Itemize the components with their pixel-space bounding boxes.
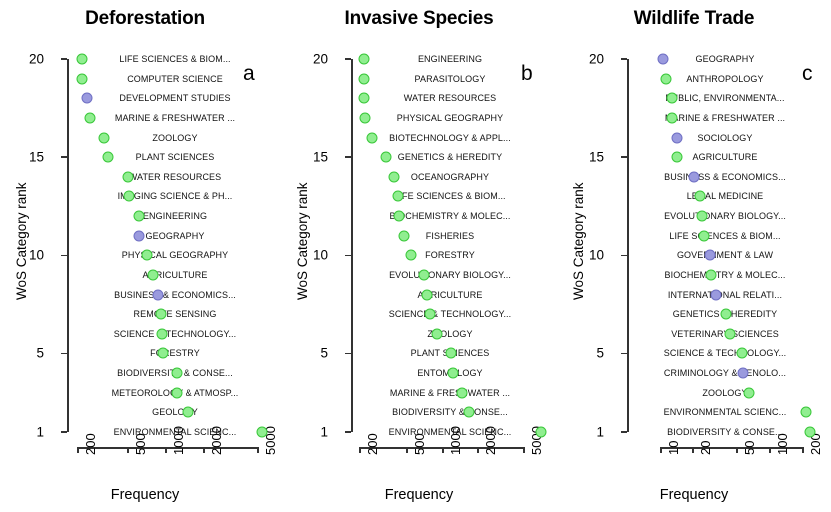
category-label: ANTHROPOLOGY [686,74,763,84]
y-tick-b-5 [345,353,351,355]
chart-panel-b: Invasive SpeciesbWoS Category rank151015… [281,0,557,512]
x-tick-label-c-50: 50 [742,441,757,455]
y-axis-label-a: WoS Category rank [14,182,29,300]
y-tick-label-b-15: 15 [298,150,328,165]
category-label: ZOOLOGY [152,133,197,143]
y-tick-b-1 [345,431,351,433]
y-tick-label-a-5: 5 [14,346,44,361]
category-label: ENVIRONMENTAL SCIENC... [389,427,512,437]
x-axis-label-b: Frequency [281,487,557,503]
data-point [142,250,153,261]
y-tick-c-10 [621,255,627,257]
x-tick-b-500 [406,447,408,453]
data-point [77,73,88,84]
x-tick-b-5000 [523,447,525,453]
x-tick-c-200 [802,447,804,453]
y-tick-label-c-15: 15 [574,150,604,165]
x-tick-a-1000 [165,447,167,453]
data-point [431,328,442,339]
x-axis-label-a: Frequency [0,487,290,503]
category-label: REMOTE SENSING [134,309,217,319]
category-label: LIFE SCIENCES & BIOM... [119,54,230,64]
data-point [671,132,682,143]
category-label: BUSINESS & ECONOMICS... [664,172,786,182]
data-point [660,73,671,84]
category-label: CRIMINOLOGY & PENOLO... [664,368,786,378]
y-tick-label-c-20: 20 [574,52,604,67]
category-label: SCIENCE & TECHNOLOGY... [389,309,512,319]
y-axis-label-b: WoS Category rank [295,182,310,300]
category-label: ENVIRONMENTAL SCIENC... [664,407,787,417]
y-tick-label-b-10: 10 [298,248,328,263]
category-label: AGRICULTURE [693,152,758,162]
y-tick-label-a-15: 15 [14,150,44,165]
category-label: BIOCHEMISTRY & MOLEC... [665,270,786,280]
panel-title-a: Deforestation [0,8,290,30]
data-point [720,309,731,320]
data-point [85,112,96,123]
category-label: FORESTRY [425,250,475,260]
data-point [725,328,736,339]
x-tick-c-50 [736,447,738,453]
data-point [358,73,369,84]
category-label: EVOLUTIONARY BIOLOGY... [664,211,786,221]
data-point [183,407,194,418]
data-point [157,328,168,339]
x-axis-label-c: Frequency [557,487,831,503]
category-label: LIFE SCIENCES & BIOM... [394,191,505,201]
y-tick-label-a-1: 1 [14,425,44,440]
x-tick-c-100 [769,447,771,453]
data-point [124,191,135,202]
category-label: ENGINEERING [418,54,482,64]
panel-title-c: Wildlife Trade [557,8,831,30]
category-label: PUBLIC, ENVIRONMENTA... [665,93,784,103]
category-label: GEOGRAPHY [696,54,755,64]
x-axis-line-a [78,447,258,449]
x-tick-label-a-200: 200 [83,433,98,455]
category-label: SOCIOLOGY [698,133,753,143]
category-label: INTERNATIONAL RELATI... [668,290,782,300]
y-tick-a-20 [61,58,67,60]
data-point [801,407,812,418]
category-label: BIODIVERSITY & CONSE... [667,427,783,437]
data-point [123,171,134,182]
y-axis-line-b [351,59,353,432]
data-point [418,269,429,280]
y-tick-b-15 [345,156,351,158]
category-label: FISHERIES [426,231,474,241]
y-tick-label-a-20: 20 [14,52,44,67]
data-point [359,112,370,123]
y-tick-label-c-1: 1 [574,425,604,440]
data-point [456,387,467,398]
x-tick-b-2000 [477,447,479,453]
y-tick-label-c-5: 5 [574,346,604,361]
x-tick-b-1000 [442,447,444,453]
data-point [147,269,158,280]
category-label: GOVERNMENT & LAW [677,250,773,260]
data-point [171,368,182,379]
y-tick-c-1 [621,431,627,433]
y-tick-label-c-10: 10 [574,248,604,263]
data-point [447,368,458,379]
category-label: BIODIVERSITY & CONSE... [392,407,508,417]
x-tick-label-b-200: 200 [365,433,380,455]
data-point [134,230,145,241]
category-label: MARINE & FRESHWATER ... [115,113,235,123]
category-label: PHYSICAL GEOGRAPHY [397,113,504,123]
data-point [82,93,93,104]
category-label: WATER RESOURCES [129,172,222,182]
x-tick-label-c-10: 10 [666,441,681,455]
y-tick-label-b-20: 20 [298,52,328,67]
data-point [666,112,677,123]
data-point [158,348,169,359]
data-point [658,54,669,65]
category-label: LIFE SCIENCES & BIOM... [669,231,780,241]
category-label: BIOCHEMISTRY & MOLEC... [390,211,511,221]
data-point [367,132,378,143]
data-point [394,211,405,222]
data-point [99,132,110,143]
data-point [666,93,677,104]
data-point [155,309,166,320]
data-point [697,211,708,222]
data-point [536,427,547,438]
chart-panel-a: DeforestationaWoS Category rank151015202… [0,0,290,512]
data-point [424,309,435,320]
category-label: MARINE & FRESHWATER ... [665,113,785,123]
category-label: SCIENCE & TECHNOLOGY... [664,348,787,358]
data-point [446,348,457,359]
data-point [405,250,416,261]
category-label: OCEANOGRAPHY [411,172,489,182]
data-point [152,289,163,300]
category-label: BUSINESS & ECONOMICS... [114,290,236,300]
category-label: SCIENCE & TECHNOLOGY... [114,329,237,339]
data-point [134,211,145,222]
y-tick-a-5 [61,353,67,355]
data-point [389,171,400,182]
y-tick-b-10 [345,255,351,257]
data-point [743,387,754,398]
x-tick-a-2000 [203,447,205,453]
y-tick-label-b-1: 1 [298,425,328,440]
y-axis-line-a [67,59,69,432]
x-tick-c-10 [660,447,662,453]
category-label: COMPUTER SCIENCE [127,74,223,84]
y-tick-a-1 [61,431,67,433]
category-label: DEVELOPMENT STUDIES [119,93,230,103]
category-label: PHYSICAL GEOGRAPHY [122,250,229,260]
category-label: MARINE & FRESHWATER ... [390,388,510,398]
x-tick-b-200 [359,447,361,453]
data-point [257,427,268,438]
panel-letter-c: c [802,62,813,86]
y-tick-label-b-5: 5 [298,346,328,361]
data-point [711,289,722,300]
category-label: PARASITOLOGY [415,74,486,84]
y-axis-label-c: WoS Category rank [571,182,586,300]
x-tick-a-500 [127,447,129,453]
panel-title-b: Invasive Species [281,8,557,30]
category-label: PLANT SCIENCES [136,152,215,162]
category-label: ENGINEERING [143,211,207,221]
y-tick-c-15 [621,156,627,158]
data-point [738,368,749,379]
data-point [736,348,747,359]
x-tick-label-c-20: 20 [698,441,713,455]
data-point [671,152,682,163]
panel-letter-b: b [521,62,533,86]
data-point [695,191,706,202]
panel-letter-a: a [243,62,255,86]
data-point [688,171,699,182]
data-point [103,152,114,163]
category-label: GENETICS & HEREDITY [398,152,502,162]
y-tick-label-a-10: 10 [14,248,44,263]
data-point [398,230,409,241]
data-point [172,387,183,398]
data-point [804,427,815,438]
data-point [422,289,433,300]
data-point [77,54,88,65]
x-tick-a-200 [77,447,79,453]
y-tick-a-15 [61,156,67,158]
category-label: GEOGRAPHY [146,231,205,241]
y-tick-c-20 [621,58,627,60]
data-point [706,269,717,280]
data-point [464,407,475,418]
category-label: ENVIRONMENTAL SCIENC... [114,427,237,437]
figure-canvas: DeforestationaWoS Category rank151015202… [0,0,831,512]
data-point [392,191,403,202]
data-point [358,54,369,65]
x-tick-a-5000 [257,447,259,453]
data-point [699,230,710,241]
y-tick-c-5 [621,353,627,355]
y-axis-line-c [627,59,629,432]
category-label: EVOLUTIONARY BIOLOGY... [389,270,511,280]
data-point [704,250,715,261]
data-point [380,152,391,163]
data-point [358,93,369,104]
category-label: WATER RESOURCES [404,93,497,103]
y-tick-a-10 [61,255,67,257]
y-tick-b-20 [345,58,351,60]
x-tick-c-20 [692,447,694,453]
chart-panel-c: Wildlife TradecWoS Category rank15101520… [557,0,831,512]
category-label: ZOOLOGY [702,388,747,398]
category-label: IMAGING SCIENCE & PH... [118,191,233,201]
category-label: BIOTECHNOLOGY & APPL... [389,133,511,143]
